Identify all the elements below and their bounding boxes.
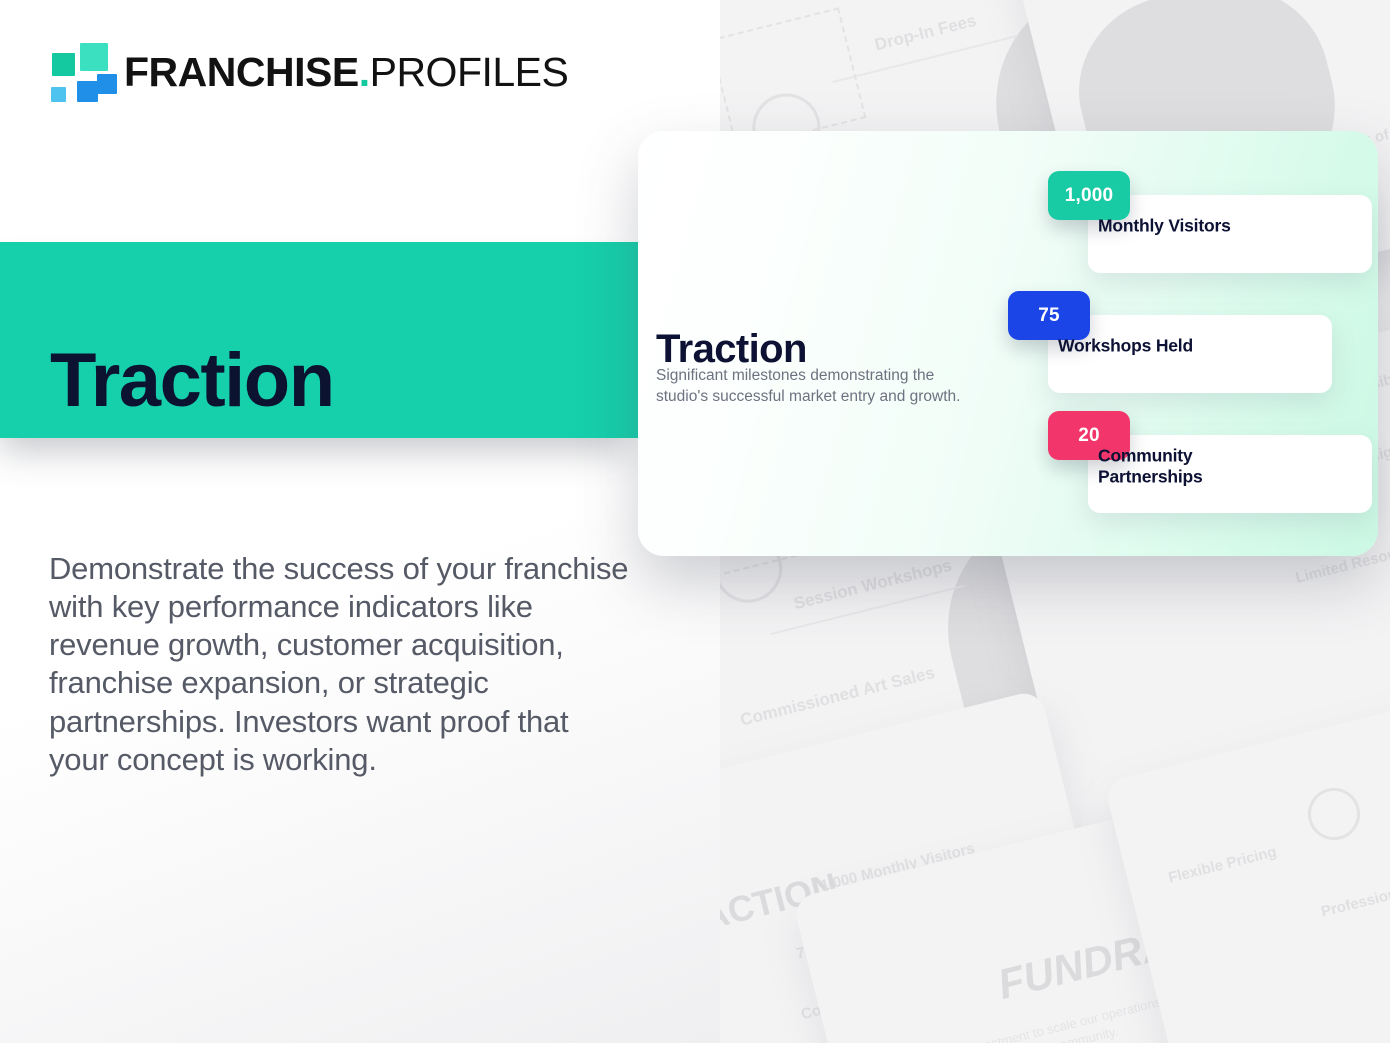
logo-square-5 [51, 87, 66, 102]
stat-row[interactable]: 1,000 Monthly Visitors [1042, 171, 1378, 281]
stat-label: Workshops Held [1058, 336, 1258, 357]
stat-value-badge: 1,000 [1048, 171, 1130, 220]
card-subtext: Significant milestones demonstrating the… [656, 365, 966, 408]
logo-word-profiles: PROFILES [370, 49, 569, 95]
logo-squares-icon [46, 42, 112, 102]
section-banner: Traction [0, 242, 638, 438]
logo-square-2 [80, 43, 108, 71]
brand-logo[interactable]: FRANCHISE.PROFILES [46, 42, 568, 102]
backdrop-slide-item: Professional Artists [1319, 870, 1390, 921]
logo-square-1 [52, 53, 75, 76]
left-content-pane: FRANCHISE.PROFILES Demonstrate the succe… [0, 0, 720, 1043]
stat-label: Monthly Visitors [1098, 216, 1298, 237]
stat-row[interactable]: 20 Community Partnerships [1042, 411, 1378, 521]
traction-preview-card[interactable]: Traction Significant milestones demonstr… [638, 131, 1378, 556]
section-title: Traction [50, 343, 334, 419]
logo-word-dot: . [359, 49, 370, 95]
logo-wordmark: FRANCHISE.PROFILES [124, 52, 568, 93]
intro-paragraph: Demonstrate the success of your franchis… [49, 550, 629, 779]
stat-row[interactable]: 75 Workshops Held [1002, 291, 1338, 401]
backdrop-slide-item: Flexible Pricing [1167, 843, 1279, 886]
backdrop-dashed-box [715, 7, 866, 150]
logo-square-4 [97, 74, 117, 94]
backdrop-slide-item: Commissioned Art Sales [738, 663, 937, 731]
logo-word-franchise: FRANCHISE [124, 49, 359, 95]
backdrop-slide-item: Session Workshops [792, 556, 954, 615]
stat-value-badge: 75 [1008, 291, 1090, 340]
logo-square-3 [77, 81, 98, 102]
backdrop-circle [1302, 782, 1365, 845]
card-heading: Traction [656, 329, 807, 369]
stat-label: Community Partnerships [1098, 445, 1298, 486]
